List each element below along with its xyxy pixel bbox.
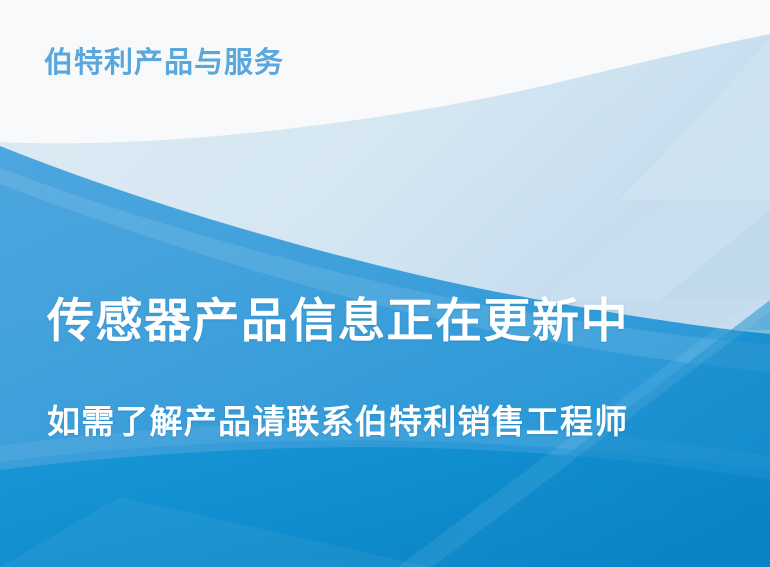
text-layer: 伯特利产品与服务 传感器产品信息正在更新中 如需了解产品请联系伯特利销售工程师 [0, 0, 770, 567]
brand-heading: 伯特利产品与服务 [44, 47, 284, 79]
banner-image: 伯特利产品与服务 传感器产品信息正在更新中 如需了解产品请联系伯特利销售工程师 [0, 0, 770, 567]
headline: 传感器产品信息正在更新中 [47, 296, 629, 348]
subheadline: 如需了解产品请联系伯特利销售工程师 [47, 404, 628, 440]
